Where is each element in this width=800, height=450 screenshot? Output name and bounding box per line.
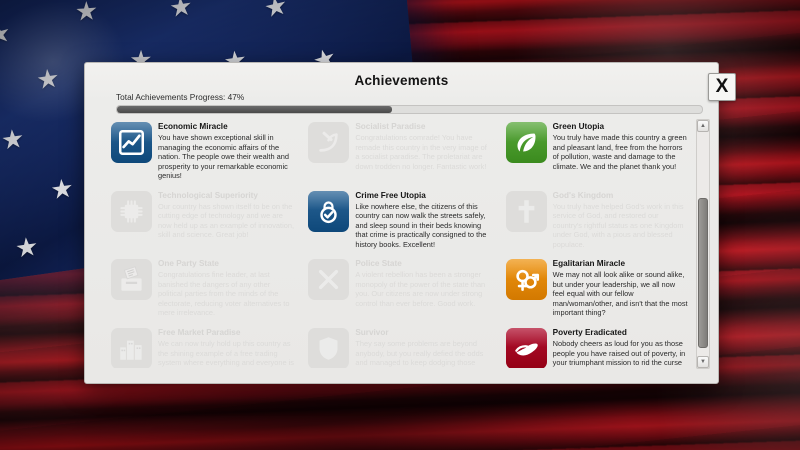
microchip-icon (111, 191, 152, 232)
achievement-description: You truly have helped God's work in this… (553, 202, 689, 249)
ballot-box-icon (111, 259, 152, 300)
progress-label: Total Achievements Progress: 47% (116, 92, 244, 102)
helping-hands-icon (506, 328, 547, 368)
scrollbar-thumb[interactable] (698, 198, 708, 348)
achievement-text: Crime Free UtopiaLike nowhere else, the … (355, 191, 491, 250)
progress-bar-fill (117, 106, 392, 113)
achievement-description: Congratulations fine leader, at last ban… (158, 270, 294, 317)
achievement-card[interactable]: SurvivorThey say some problems are beyon… (304, 324, 493, 368)
achievement-title: Police State (355, 259, 491, 269)
achievement-title: Economic Miracle (158, 122, 294, 132)
achievement-title: One Party State (158, 259, 294, 269)
achievement-description: A violent rebellion has been a stronger … (355, 270, 491, 308)
achievement-card[interactable]: Socialist ParadiseCongratulations comrad… (304, 118, 493, 187)
achievement-description: Like nowhere else, the citizens of this … (355, 202, 491, 249)
achievement-card[interactable]: God's KingdomYou truly have helped God's… (502, 187, 691, 256)
achievement-description: We can now truly hold up this country as… (158, 339, 294, 368)
achievement-description: You truly have made this country a green… (553, 133, 689, 171)
vertical-scrollbar[interactable]: ▲ ▼ (696, 119, 710, 369)
achievement-text: Police StateA violent rebellion has been… (355, 259, 491, 308)
scroll-up-arrow-icon[interactable]: ▲ (697, 120, 709, 132)
hammer-sickle-icon (308, 122, 349, 163)
achievement-title: Technological Superiority (158, 191, 294, 201)
achievement-title: Socialist Paradise (355, 122, 491, 132)
achievement-text: Free Market ParadiseWe can now truly hol… (158, 328, 294, 368)
achievement-text: Technological SuperiorityOur country has… (158, 191, 294, 240)
achievement-text: God's KingdomYou truly have helped God's… (553, 191, 689, 250)
achievement-description: You have shown exceptional skill in mana… (158, 133, 294, 180)
achievement-description: Congratulations comrade! You have remade… (355, 133, 491, 171)
chart-line-up-icon (111, 122, 152, 163)
gender-equality-icon (506, 259, 547, 300)
achievement-card[interactable]: Poverty EradicatedNobody cheers as loud … (502, 324, 691, 368)
padlock-check-icon (308, 191, 349, 232)
leaf-icon (506, 122, 547, 163)
achievement-card[interactable]: Egalitarian MiracleWe may not all look a… (502, 255, 691, 324)
achievement-title: Crime Free Utopia (355, 191, 491, 201)
achievement-title: Poverty Eradicated (553, 328, 689, 338)
dialog-title: Achievements (85, 63, 718, 88)
achievement-title: Free Market Paradise (158, 328, 294, 338)
achievements-dialog: Achievements X Total Achievements Progre… (84, 62, 719, 384)
achievement-description: They say some problems are beyond anybod… (355, 339, 491, 368)
achievement-title: Survivor (355, 328, 491, 338)
achievement-card[interactable]: Police StateA violent rebellion has been… (304, 255, 493, 324)
achievement-text: Poverty EradicatedNobody cheers as loud … (553, 328, 689, 368)
achievement-description: We may not all look alike or sound alike… (553, 270, 689, 317)
achievement-card[interactable]: Green UtopiaYou truly have made this cou… (502, 118, 691, 187)
crossed-batons-icon (308, 259, 349, 300)
achievements-grid: Economic MiracleYou have shown exception… (107, 118, 691, 368)
achievement-title: Green Utopia (553, 122, 689, 132)
achievement-card[interactable]: Crime Free UtopiaLike nowhere else, the … (304, 187, 493, 256)
achievement-card[interactable]: Free Market ParadiseWe can now truly hol… (107, 324, 296, 368)
achievement-text: Economic MiracleYou have shown exception… (158, 122, 294, 181)
achievement-card[interactable]: One Party StateCongratulations fine lead… (107, 255, 296, 324)
achievement-description: Nobody cheers as loud for you as those p… (553, 339, 689, 368)
achievement-description: Our country has shown itself to be on th… (158, 202, 294, 240)
achievement-text: Egalitarian MiracleWe may not all look a… (553, 259, 689, 318)
achievements-scroll-area[interactable]: Economic MiracleYou have shown exception… (107, 118, 691, 368)
achievement-text: One Party StateCongratulations fine lead… (158, 259, 294, 318)
shield-icon (308, 328, 349, 368)
achievement-text: SurvivorThey say some problems are beyon… (355, 328, 491, 368)
close-button[interactable]: X (708, 73, 736, 101)
city-skyline-icon (111, 328, 152, 368)
progress-bar (116, 105, 703, 114)
achievement-title: God's Kingdom (553, 191, 689, 201)
scroll-down-arrow-icon[interactable]: ▼ (697, 356, 709, 368)
achievement-card[interactable]: Technological SuperiorityOur country has… (107, 187, 296, 256)
achievement-card[interactable]: Economic MiracleYou have shown exception… (107, 118, 296, 187)
achievement-title: Egalitarian Miracle (553, 259, 689, 269)
achievement-text: Socialist ParadiseCongratulations comrad… (355, 122, 491, 171)
achievement-text: Green UtopiaYou truly have made this cou… (553, 122, 689, 171)
cross-icon (506, 191, 547, 232)
